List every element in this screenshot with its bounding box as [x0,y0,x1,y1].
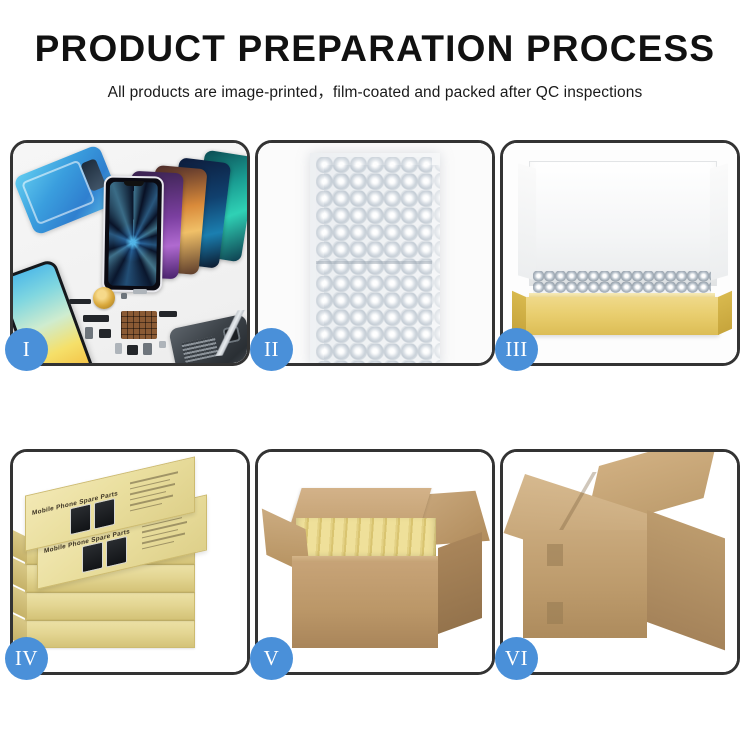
step-badge-3: III [495,328,538,371]
carton-front-panel [523,530,647,638]
step-panel-2: II [255,140,495,366]
step-image-2 [258,143,492,363]
step-panel-5: V [255,449,495,675]
step-image-4: Mobile Phone Spare Parts Mobile Phone Sp… [13,452,247,672]
page-header: PRODUCT PREPARATION PROCESS All products… [0,0,750,102]
bubble-wrap-bubbles-back [324,165,440,363]
step-image-3 [503,143,737,363]
carton-tape-mark [547,544,563,566]
step-panel-3: III [500,140,740,366]
carton-tape-mark [547,602,563,624]
box-spec-lines [130,469,186,516]
retail-box-body [25,592,195,620]
box-screen-thumb [94,498,115,530]
step-badge-4: IV [5,637,48,680]
step-image-6 [503,452,737,672]
step-panel-1: I [10,140,250,366]
phone-screen-dark [102,175,164,292]
bubble-wrap-seam [316,261,432,264]
part-flex-cable [83,315,109,322]
part-antenna-cable [159,311,177,317]
carton-side-panel [438,532,482,634]
retail-box-body [25,620,195,648]
step-image-5 [258,452,492,672]
step-badge-2: II [250,328,293,371]
process-steps-grid: I II III [10,140,740,675]
part-camera-module [127,345,138,355]
step-badge-1: I [5,328,48,371]
phone-screens-fan [101,151,247,276]
part-strip [69,299,91,304]
step-panel-6: VI [500,449,740,675]
wireless-charging-coil-icon [93,287,115,309]
tweezers-icon [206,309,247,356]
carton-front-panel [292,562,438,648]
page-subtitle: All products are image-printed，film-coat… [0,80,750,102]
part-button [85,327,93,339]
spare-parts-cluster [69,285,247,363]
step-image-1 [13,143,247,363]
part-small-screw [159,341,166,348]
part-sim-tray [115,343,122,354]
step-badge-5: V [250,637,293,680]
box-screen-thumb [70,503,91,535]
step-panel-4: Mobile Phone Spare Parts Mobile Phone Sp… [10,449,250,675]
retail-box-stack: Mobile Phone Spare Parts Mobile Phone Sp… [19,470,241,666]
connector-chip-icon [121,311,157,339]
box-inner-lid [529,161,717,286]
box-screen-thumb [82,541,103,573]
page-title: PRODUCT PREPARATION PROCESS [0,30,750,69]
part-screw [121,293,127,299]
part-bracket [133,289,147,294]
step-badge-6: VI [495,637,538,680]
kraft-box-front [525,297,719,335]
part-vibrator [143,343,152,355]
part-speaker [99,329,111,338]
box-screen-thumb [106,536,127,568]
